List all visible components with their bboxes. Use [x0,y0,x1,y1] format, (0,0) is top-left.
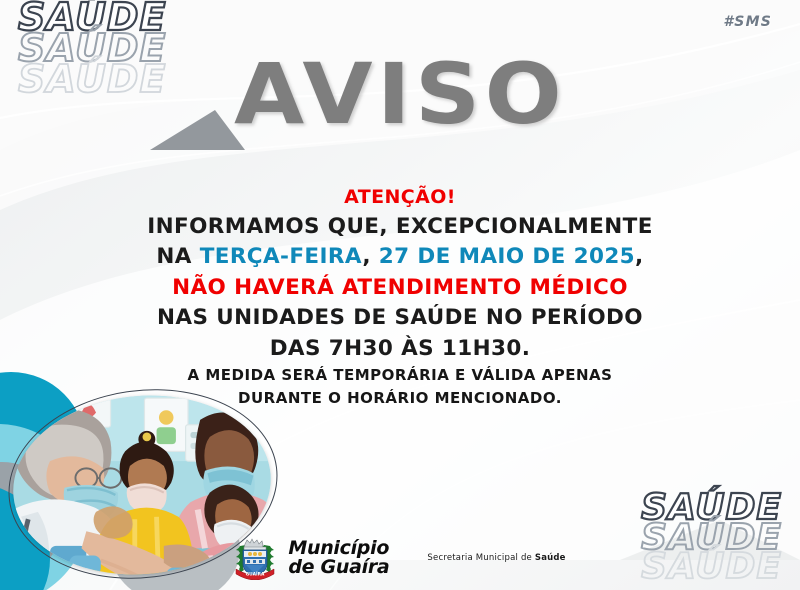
hashtag-sms: #SMS [723,14,772,30]
secretariat-bold: Saúde [535,553,566,563]
message-line-2: NA TERÇA-FEIRA, 27 DE MAIO DE 2025, [0,242,800,273]
message-line-1: INFORMAMOS QUE, EXCEPCIONALMENTE [0,212,800,243]
municipality-name: Município de Guaíra [288,539,389,578]
page-title: AVISO [0,52,800,136]
watermark-saude-bottom-right: SAÚDE SAÚDE SAÚDE [641,493,782,582]
message-date: 27 DE MAIO DE 2025 [379,244,635,269]
message-weekday: TERÇA-FEIRA [200,244,363,269]
watermark-br-line-3: SAÚDE [641,552,782,582]
secretariat-label: Secretaria Municipal de Saúde [427,553,565,563]
message-line-2-prefix: NA [156,244,199,269]
poster-canvas: SAÚDE SAÚDE SAÚDE #SMS AVISO ATENÇÃO! IN… [0,0,800,590]
message-line-2-comma: , [362,244,378,269]
municipality-line-2: de Guaíra [288,558,389,577]
message-line-3: NÃO HAVERÁ ATENDIMENTO MÉDICO [0,273,800,304]
secretariat-prefix: Secretaria Municipal de [427,553,534,563]
message-line-5: DAS 7H30 ÀS 11H30. [0,334,800,365]
photo-doctor-children [6,385,279,585]
message-line-4: NAS UNIDADES DE SAÚDE NO PERÍODO [0,303,800,334]
message-attention: ATENÇÃO! [0,186,800,210]
message-line-2-suffix: , [635,244,644,269]
main-message: ATENÇÃO! INFORMAMOS QUE, EXCEPCIONALMENT… [0,186,800,364]
